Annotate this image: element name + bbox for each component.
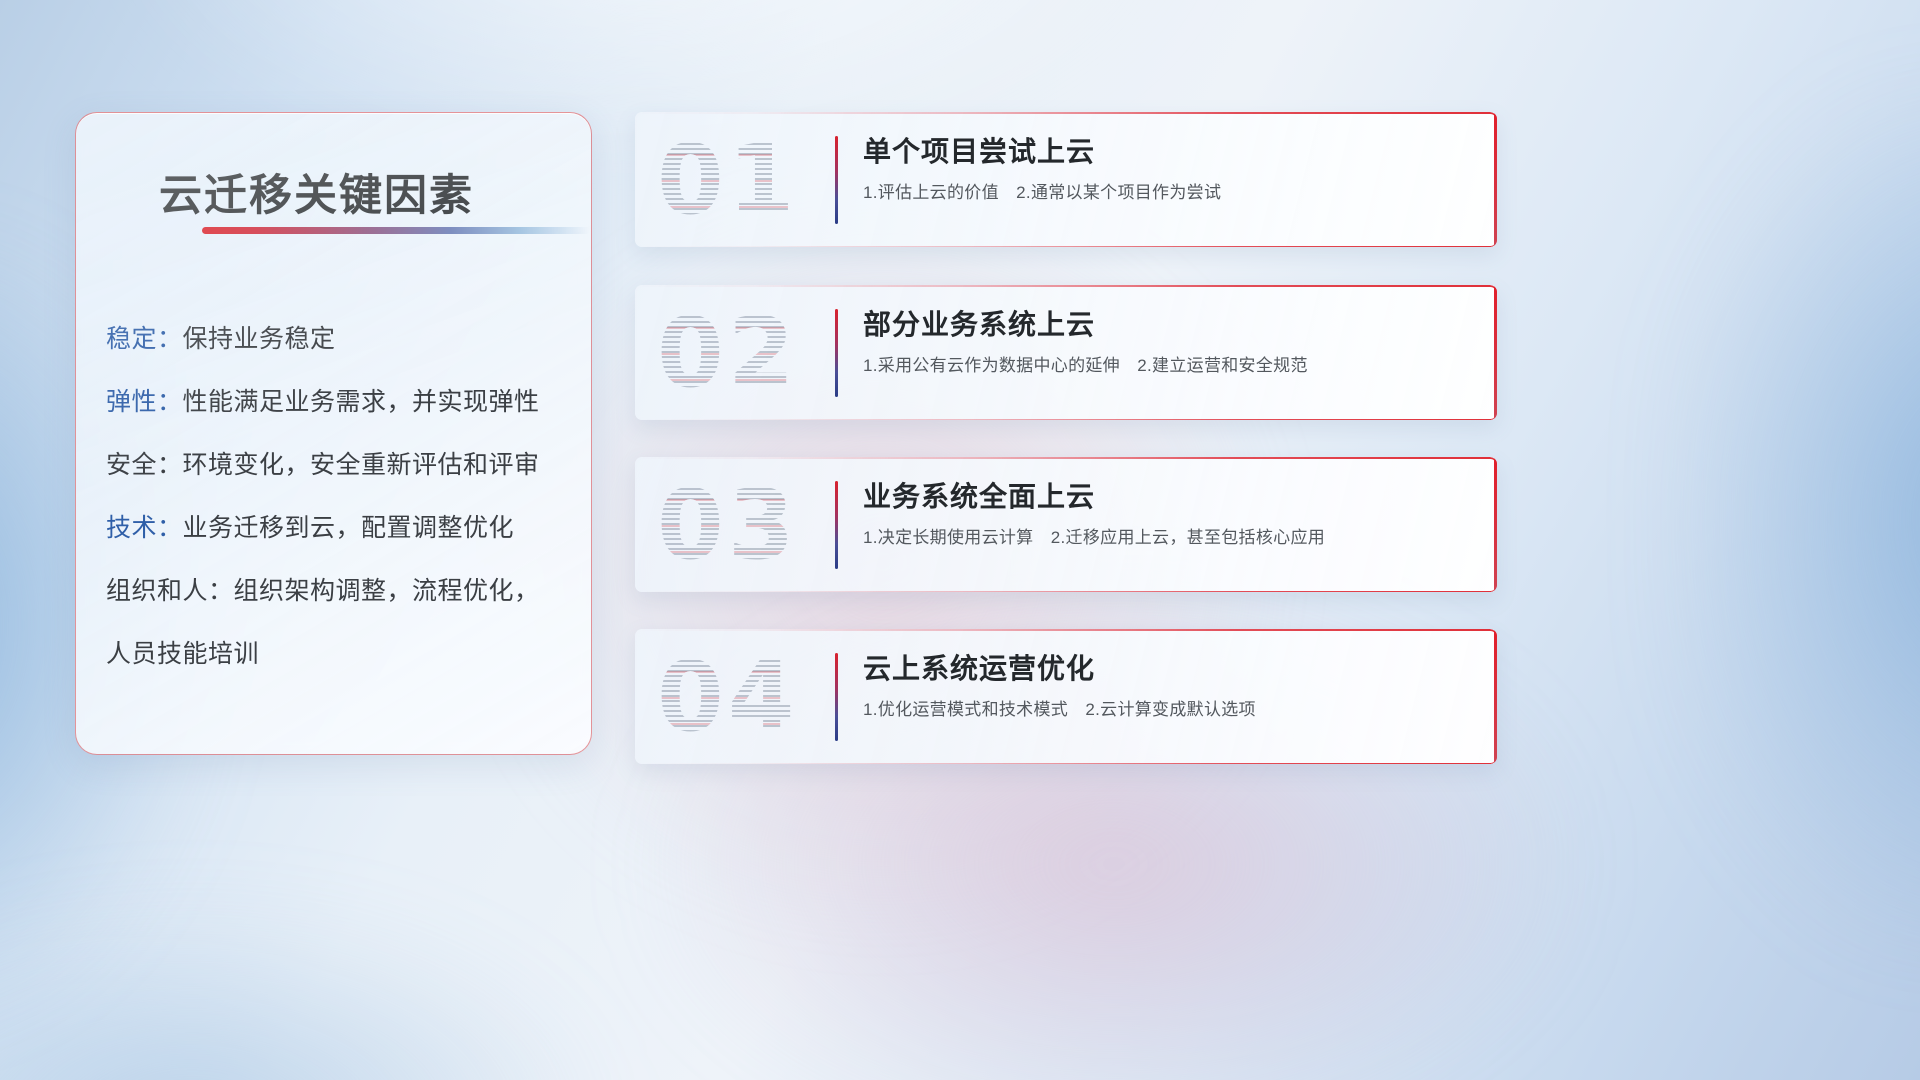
key-factor-value: 环境变化，安全重新评估和评审: [183, 451, 540, 479]
key-factor-label: 弹性：: [106, 388, 183, 416]
stage-number-ghost: 04: [657, 645, 837, 749]
key-factor-line: 人员技能培训: [106, 623, 576, 686]
stage-card-body: 业务系统全面上云1.决定长期使用云计算 2.迁移应用上云，甚至包括核心应用: [863, 475, 1473, 553]
key-factor-label: 组织和人：: [106, 577, 234, 605]
stage-card-title: 云上系统运营优化: [863, 647, 1473, 691]
stage-number-ghost: 01: [657, 128, 837, 232]
stage-card-subtitle: 1.优化运营模式和技术模式 2.云计算变成默认选项: [863, 695, 1473, 725]
stage-card-body: 单个项目尝试上云1.评估上云的价值 2.通常以某个项目作为尝试: [863, 130, 1473, 208]
stage-card-divider: [835, 136, 838, 224]
stage-card-title: 部分业务系统上云: [863, 303, 1473, 347]
key-factor-line: 技术：业务迁移到云，配置调整优化: [106, 497, 576, 560]
key-factor-label: 安全：: [106, 451, 183, 479]
key-factor-label: 稳定：: [106, 325, 183, 353]
stage-card[interactable]: 0303业务系统全面上云1.决定长期使用云计算 2.迁移应用上云，甚至包括核心应…: [635, 457, 1497, 592]
stage-card-title: 业务系统全面上云: [863, 475, 1473, 519]
key-factor-line: 稳定：保持业务稳定: [106, 308, 576, 371]
key-factor-line: 组织和人：组织架构调整，流程优化，: [106, 560, 576, 623]
stage-card-body: 云上系统运营优化1.优化运营模式和技术模式 2.云计算变成默认选项: [863, 647, 1473, 725]
key-factor-value: 业务迁移到云，配置调整优化: [183, 514, 515, 542]
key-factors-panel: 云迁移关键因素 稳定：保持业务稳定弹性：性能满足业务需求，并实现弹性安全：环境变…: [75, 112, 592, 755]
key-factors-list: 稳定：保持业务稳定弹性：性能满足业务需求，并实现弹性安全：环境变化，安全重新评估…: [106, 308, 576, 686]
stage-card[interactable]: 0404云上系统运营优化1.优化运营模式和技术模式 2.云计算变成默认选项: [635, 629, 1497, 764]
stage-card-subtitle: 1.评估上云的价值 2.通常以某个项目作为尝试: [863, 178, 1473, 208]
stage-card[interactable]: 0101单个项目尝试上云1.评估上云的价值 2.通常以某个项目作为尝试: [635, 112, 1497, 247]
key-factor-label: 技术：: [106, 514, 183, 542]
stage-card[interactable]: 0202部分业务系统上云1.采用公有云作为数据中心的延伸 2.建立运营和安全规范: [635, 285, 1497, 420]
stage-number-ghost-tint: 03: [657, 473, 837, 577]
stage-number-ghost-tint: 01: [657, 128, 837, 232]
slide-stage: 云迁移关键因素 稳定：保持业务稳定弹性：性能满足业务需求，并实现弹性安全：环境变…: [0, 0, 1920, 1080]
key-factor-value: 人员技能培训: [106, 640, 259, 668]
panel-title: 云迁移关键因素: [159, 161, 474, 223]
key-factor-value: 保持业务稳定: [183, 325, 336, 353]
stage-card-subtitle: 1.决定长期使用云计算 2.迁移应用上云，甚至包括核心应用: [863, 523, 1473, 553]
key-factor-line: 安全：环境变化，安全重新评估和评审: [106, 434, 576, 497]
key-factor-line: 弹性：性能满足业务需求，并实现弹性: [106, 371, 576, 434]
stage-number-ghost-tint: 02: [657, 301, 837, 405]
key-factor-value: 性能满足业务需求，并实现弹性: [183, 388, 540, 416]
title-underline-rule: [202, 227, 590, 234]
stage-card-divider: [835, 309, 838, 397]
stage-card-subtitle: 1.采用公有云作为数据中心的延伸 2.建立运营和安全规范: [863, 351, 1473, 381]
stage-card-divider: [835, 481, 838, 569]
stage-card-divider: [835, 653, 838, 741]
key-factor-value: 组织架构调整，流程优化，: [234, 577, 540, 605]
stage-number-ghost-tint: 04: [657, 645, 837, 749]
stage-number-ghost: 03: [657, 473, 837, 577]
stage-number-ghost: 02: [657, 301, 837, 405]
stage-card-title: 单个项目尝试上云: [863, 130, 1473, 174]
stage-card-body: 部分业务系统上云1.采用公有云作为数据中心的延伸 2.建立运营和安全规范: [863, 303, 1473, 381]
